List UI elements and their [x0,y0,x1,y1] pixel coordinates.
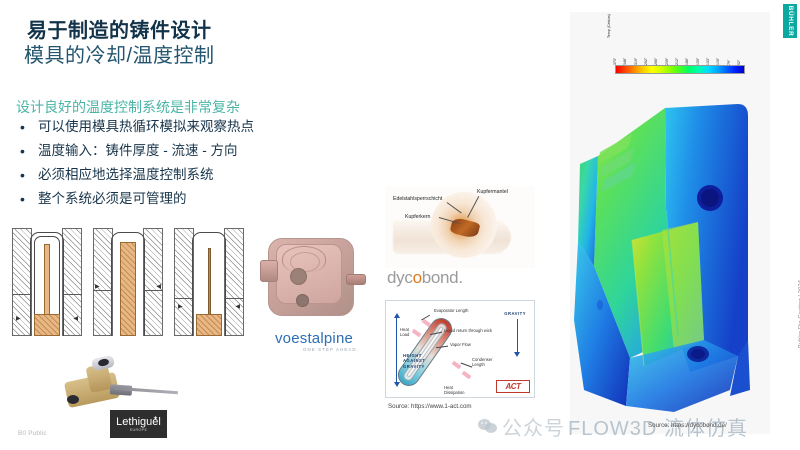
list-item: • 必须相应地选择温度控制系统 [16,166,396,184]
watermark-wechat-label: 公众号 [502,412,565,441]
shelf-line [224,298,244,299]
legend-tick-label: 348° [623,58,627,65]
legend-tick-label: 319° [634,58,638,65]
label-copper-core: Kupferkern [405,214,430,220]
bullet-list: • 可以使用模具热循环模拟来观察热点 • 温度输入：铸件厚度 - 流速 - 方向… [16,118,396,214]
label-evaporator-length: Evaporator Length [434,308,468,313]
lethiguel-logo: ✦ Lethiguel EUROPE [110,410,167,438]
legend-tick-label: 373° [613,58,617,65]
voestalpine-block: voestalpine ONE STEP AHEAD. [248,228,380,360]
cooling-core [120,242,136,336]
star-icon: ✦ [153,415,158,422]
legend-tick-label: 266° [654,58,658,65]
flow-arrow-icon: ▶ [95,284,100,290]
legend-color-bar [615,65,745,74]
heat-in-marker [422,319,432,327]
cad-mold-render [260,232,366,324]
thermal-simulation-panel: Temp (Celsius) 373°348°319°292°266°239°2… [570,12,770,434]
core-base [196,314,222,336]
dycobond-logo: dycobond. [387,268,463,288]
label-condenser-length: Condenser Length [472,357,492,368]
dycobond-logo-accent: o [413,268,422,287]
mold-bore-upper [290,268,307,285]
shelf-line [62,294,82,295]
cross-section-diagram-3: ▶ ◀ [174,228,244,336]
wechat-dot [485,422,487,424]
cross-section-diagram-2: ▶ ◀ [93,228,163,336]
dycobond-block: Edelstahlsperrschicht Kupfermantel Kupfe… [385,186,535,294]
cross-section-diagram-1: ▶ ◀ [12,228,82,336]
flow-arrow-icon: ◀ [235,304,240,310]
legend-tick-label: 186° [685,58,689,65]
bullet-text: 可以使用模具热循环模拟来观察热点 [38,118,254,136]
wechat-bubble-front [485,423,497,433]
buhler-logo-text: BÜHLER [783,4,797,38]
leader-line [461,363,472,368]
label-height-against-gravity: HEIGHT AGAINST GRAVITY [403,353,419,369]
mold-bore-lower [296,294,309,307]
buhler-logo: BÜHLER [783,4,797,38]
legend-tick-label: 159° [696,58,700,65]
legend-tick-labels: 373°348°319°292°266°239°212°186°159°133°… [615,37,745,65]
shelf-line [143,290,163,291]
flow-arrow-icon: ◀ [156,284,161,290]
legend-tick-label: 239° [665,58,669,65]
lethiguel-logo-tagline: EUROPE [130,428,148,433]
bullet-marker-icon: • [16,190,38,208]
gravity-arrow-icon [517,319,518,353]
legend-title: Temp (Celsius) [607,14,611,38]
label-gravity: GRAVITY [504,311,526,316]
height-arrow-icon [396,317,397,383]
hatch-fill-right [224,228,244,336]
label-barrier-layer: Edelstahlsperrschicht [393,196,442,202]
page-title-line2: 模具的冷却/温度控制 [24,39,215,68]
dycobond-logo-part1: dyc [387,268,413,287]
act-logo: ACT [496,380,530,393]
label-copper-jacket: Kupfermantel [477,189,508,195]
list-item: • 整个系统必须是可管理的 [16,190,396,208]
hatch-fill-right [143,228,163,336]
simulated-part-geometry [570,90,770,420]
label-liquid-return: Liquid return through wick [444,328,492,333]
hatch-fill-right [62,228,82,336]
label-vapor-flow: Vapor Flow [450,342,471,347]
list-item: • 可以使用模具热循环模拟来观察热点 [16,118,396,136]
bullet-marker-icon: • [16,142,38,160]
bullet-marker-icon: • [16,166,38,184]
voestalpine-logo: voestalpine ONE STEP AHEAD. [258,330,370,353]
list-item: • 温度输入：铸件厚度 - 流速 - 方向 [16,142,396,160]
legend-tick-label: 292° [644,58,648,65]
bullet-text: 温度输入：铸件厚度 - 流速 - 方向 [38,142,238,160]
footer-classification-note: B0 Public [18,430,47,437]
cooling-core [44,244,50,322]
shelf-line [174,298,194,299]
hatch-fill-left [174,228,194,336]
legend-tick-label: 212° [675,58,679,65]
label-heat-load: Heat Load [400,327,414,338]
voestalpine-logo-tagline: ONE STEP AHEAD. [258,347,370,353]
heat-pipe-diagram: Evaporator Length GRAVITY HEIGHT AGAINST… [385,300,535,398]
temperature-color-legend: Temp (Celsius) 373°348°319°292°266°239°2… [605,32,747,74]
voestalpine-logo-name: voestalpine [258,330,370,347]
act-logo-text: ACT [506,382,521,391]
shelf-line [93,290,113,291]
heat-out-marker [462,371,472,379]
heatpipe-source-citation: Source: https://www.1-act.com [388,403,472,410]
shelf-line [12,294,32,295]
legend-tick-label: 106° [716,58,720,65]
leader-line [436,346,448,348]
bullet-marker-icon: • [16,118,38,136]
legend-tick-label: 133° [706,58,710,65]
slide-canvas: 易于制造的铸件设计 模具的冷却/温度控制 设计良好的温度控制系统是非常复杂 • … [0,0,800,450]
bullet-text: 必须相应地选择温度控制系统 [38,166,214,184]
core-base [34,314,60,336]
hatch-fill-left [12,228,32,336]
wechat-icon [478,417,498,434]
dycobond-logo-part2: bond. [422,268,463,287]
bullet-text: 整个系统必须是可管理的 [38,190,187,208]
flow-arrow-icon: ◀ [73,316,78,322]
hatch-fill-left [93,228,113,336]
flow-arrow-icon: ▶ [178,304,183,310]
wechat-dot [481,422,483,424]
copper-rod-photo: Edelstahlsperrschicht Kupfermantel Kupfe… [385,186,535,268]
label-heat-dissipation: Heat Dissipation [444,385,466,396]
fitting-bore-side [67,395,79,404]
dycobond-source-citation: Source: https://dycobond.de/ [648,422,727,429]
heat-pipe-body [394,314,457,391]
flow-arrow-icon: ▶ [16,316,21,322]
mold-port-left [260,260,278,282]
mold-port-right [346,274,366,285]
section-subtitle: 设计良好的温度控制系统是非常复杂 [16,97,240,117]
mold-cooling-diagrams: ▶ ◀ ▶ ◀ ▶ ◀ [12,228,244,336]
